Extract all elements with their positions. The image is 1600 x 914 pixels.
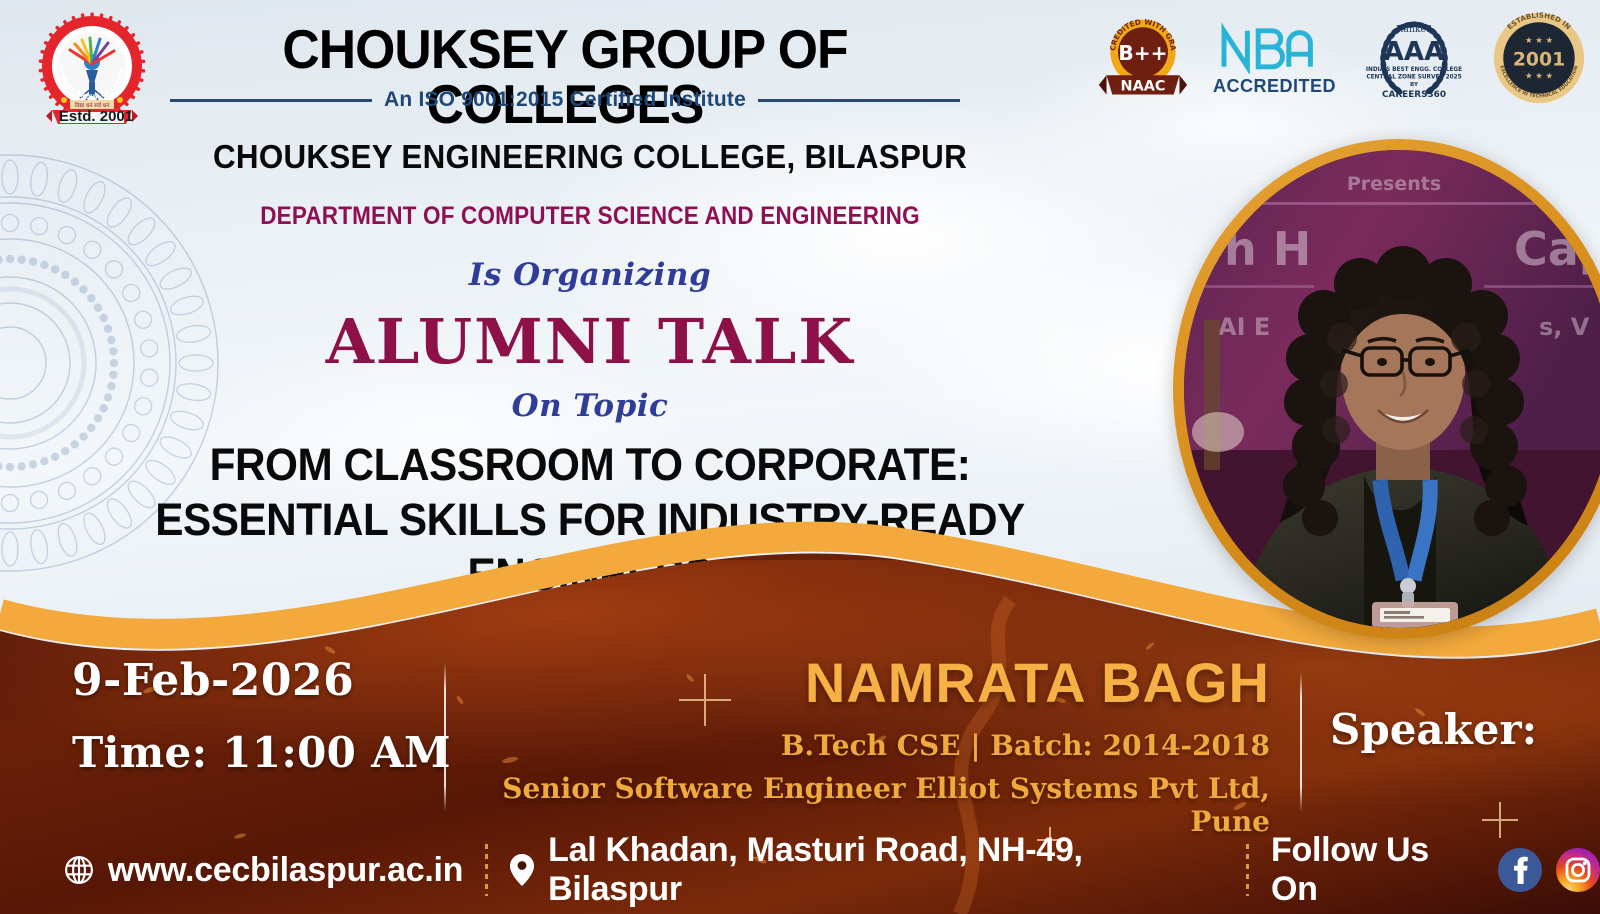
svg-text:Cap: Cap [1514,222,1600,276]
iso-certification-text: An ISO 9001:2015 Certified Institute [384,88,746,112]
naac-grade-text: B++ [1118,41,1167,65]
divider-date-speaker [444,662,446,812]
iso-rule-left [170,99,372,102]
svg-text:BY: BY [1410,82,1419,88]
speaker-name: NAMRATA BAGH [460,650,1270,715]
svg-text:INDIA'S BEST ENGG. COLLEGE: INDIA'S BEST ENGG. COLLEGE [1366,67,1462,73]
naac-label-text: NAAC [1121,79,1166,95]
naac-badge: ACCREDITED WITH GRADE B++ NAAC [1095,10,1191,106]
follow-us-label: Follow Us On [1271,831,1484,909]
svg-text:AAA: AAA [1384,37,1445,67]
footer-website[interactable]: www.cecbilaspur.ac.in [64,851,463,890]
svg-text:CAREERS360: CAREERS360 [1382,90,1446,100]
on-topic-label: On Topic [0,388,1180,424]
footer-separator [1246,844,1249,896]
speaker-label: Speaker: [1330,705,1537,754]
organisation-title: CHOUKSEY GROUP OF COLLEGES [194,22,937,132]
footer-bar: www.cecbilaspur.ac.in Lal Khadan, Mastur… [0,826,1600,914]
footer-follow: Follow Us On [1271,831,1600,909]
facebook-icon[interactable] [1498,848,1542,892]
event-datetime: 9-Feb-2026 Time: 11:00 AM [72,655,451,777]
speaker-qualification: B.Tech CSE | Batch: 2014-2018 [460,729,1270,762]
topic-heading: FROM CLASSROOM TO CORPORATE: ESSENTIAL S… [35,438,1144,603]
established-badge: ESTABLISHED IN EXCELLENCE IN TECHNICAL E… [1492,11,1586,105]
divider-speaker-label [1300,672,1302,812]
careers360-badge: Ranked AAA INDIA'S BEST ENGG. COLLEGE CE… [1358,10,1470,106]
event-time: Time: 11:00 AM [72,728,451,777]
speaker-photo: Presents h H Cap AI E s, V [1173,139,1600,639]
event-date: 9-Feb-2026 [72,655,451,706]
college-name: CHOUKSEY ENGINEERING COLLEGE, BILASPUR [30,138,1151,176]
svg-text:CENTRAL ZONE SURVEY 2025: CENTRAL ZONE SURVEY 2025 [1366,75,1461,81]
college-crest-logo: विद्या धनं सर्व धनं CHOUKSEY GROUP OF CO… [26,12,166,132]
footer-separator [485,844,488,896]
organizing-label: Is Organizing [0,257,1180,293]
main-content: CHOUKSEY ENGINEERING COLLEGE, BILASPUR D… [0,138,1180,603]
footer-address: Lal Khadan, Masturi Road, NH-49, Bilaspu… [510,831,1224,909]
footer-website-text: www.cecbilaspur.ac.in [108,851,463,890]
iso-rule-right [758,99,960,102]
established-year-text: 2001 [1513,50,1565,71]
topic-line-2: ESSENTIAL SKILLS FOR INDUSTRY-READY ENGI… [35,493,1144,603]
svg-text:AI E: AI E [1218,313,1270,341]
svg-text:h H: h H [1224,222,1311,276]
nba-badge: ACCREDITED [1213,20,1336,97]
event-title: ALUMNI TALK [0,305,1180,378]
instagram-icon[interactable] [1556,848,1600,892]
svg-text:Presents: Presents [1347,173,1441,195]
accreditation-badges: ACCREDITED WITH GRADE B++ NAAC ACCREDITE… [1095,10,1586,106]
svg-text:Ranked: Ranked [1396,24,1432,35]
footer-address-text: Lal Khadan, Masturi Road, NH-49, Bilaspu… [548,831,1224,909]
iso-certification-row: An ISO 9001:2015 Certified Institute [170,88,960,112]
speaker-details: NAMRATA BAGH B.Tech CSE | Batch: 2014-20… [460,650,1270,838]
speaker-portrait-image: Presents h H Cap AI E s, V [1184,150,1600,628]
poster: विद्या धनं सर्व धनं CHOUKSEY GROUP OF CO… [0,0,1600,914]
globe-icon [64,855,94,885]
map-pin-icon [510,854,534,886]
nba-label: ACCREDITED [1213,76,1336,97]
svg-text:s, V: s, V [1539,313,1590,341]
department-name: DEPARTMENT OF COMPUTER SCIENCE AND ENGIN… [59,202,1121,231]
crest-established-label: Estd. 2001 [26,108,166,125]
topic-line-1: FROM CLASSROOM TO CORPORATE: [35,438,1144,493]
svg-text:★ ★ ★: ★ ★ ★ [1525,35,1554,45]
svg-text:★ ★ ★: ★ ★ ★ [1525,71,1554,81]
